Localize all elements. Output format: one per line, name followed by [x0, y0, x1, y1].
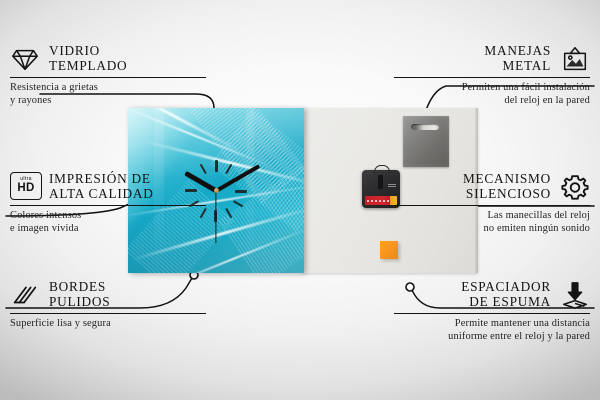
clock-center-pin	[214, 188, 219, 193]
infographic-canvas: VIDRIO TEMPLADO Resistencia a grietas y …	[0, 0, 600, 400]
feature-impresion-alta-calidad: ultra HD IMPRESIÓN DE ALTA CALIDAD Color…	[10, 172, 206, 235]
feature-manejas-metal: MANEJAS METAL Permiten una fácil instala…	[394, 44, 590, 107]
feature-divider	[394, 205, 590, 206]
mechanism-hanging-loop	[374, 165, 390, 174]
feature-espaciador-espuma: ESPACIADOR DE ESPUMA Permite mantener un…	[394, 280, 590, 343]
feature-title: ESPACIADOR DE ESPUMA	[461, 280, 551, 309]
feature-title: VIDRIO TEMPLADO	[49, 44, 127, 73]
feature-divider	[394, 313, 590, 314]
feature-divider	[394, 77, 590, 78]
mechanism-shaft	[378, 175, 383, 189]
hd-badge-hd-text: HD	[17, 183, 34, 195]
battery-label	[365, 196, 397, 205]
feature-title: IMPRESIÓN DE ALTA CALIDAD	[49, 172, 154, 201]
feature-divider	[10, 205, 206, 206]
metal-hanger-plate	[403, 116, 449, 167]
feature-subtitle: Colores intensos e imagen vívida	[10, 210, 206, 235]
feature-title: BORDES PULIDOS	[49, 280, 110, 309]
feature-title: MANEJAS METAL	[484, 44, 551, 73]
gear-icon	[560, 172, 590, 202]
picture-frame-hanger-icon	[560, 44, 590, 74]
feature-subtitle: Permiten una fácil instalación del reloj…	[394, 82, 590, 107]
ultra-hd-badge-icon: ultra HD	[10, 172, 40, 202]
feature-subtitle: Las manecillas del reloj no emiten ningú…	[394, 210, 590, 235]
feature-mecanismo-silencioso: MECANISMO SILENCIOSO Las manecillas del …	[394, 172, 590, 235]
feature-subtitle: Permite mantener una distancia uniforme …	[394, 318, 590, 343]
feature-subtitle: Resistencia a grietas y rayones	[10, 82, 206, 107]
feature-bordes-pulidos: BORDES PULIDOS Superficie lisa y segura	[10, 280, 206, 331]
feature-subtitle: Superficie lisa y segura	[10, 318, 206, 330]
diamond-icon	[10, 44, 40, 74]
feature-vidrio-templado: VIDRIO TEMPLADO Resistencia a grietas y …	[10, 44, 206, 107]
feature-divider	[10, 77, 206, 78]
foam-spacer-arrow-icon	[560, 280, 590, 310]
polished-edges-icon	[10, 280, 40, 310]
foam-spacer	[380, 241, 398, 259]
feature-title: MECANISMO SILENCIOSO	[463, 172, 551, 201]
feature-divider	[10, 313, 206, 314]
hanger-keyhole-slot	[411, 124, 439, 130]
